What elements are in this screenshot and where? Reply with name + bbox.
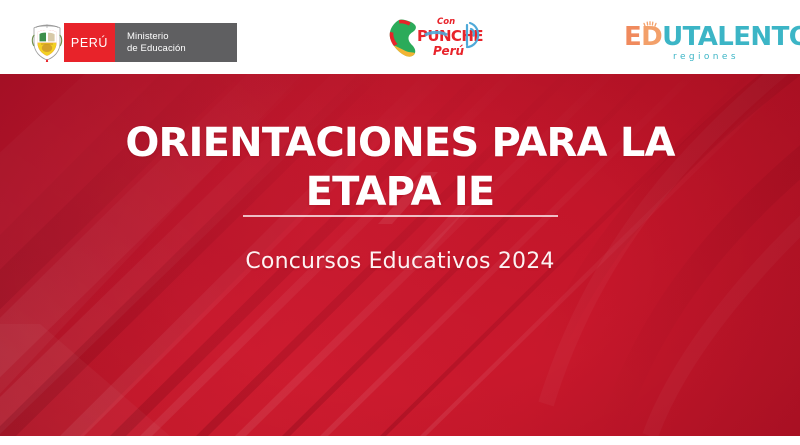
ministry-line-1: Ministerio [127,31,237,43]
sun-rays-icon [643,20,657,27]
peru-map-icon [390,20,416,57]
peru-label-block: PERÚ [64,23,115,62]
presentation-slide: PERÚ Ministerio de Educación Con PUNCHE [0,0,800,445]
edutalentos-rest: UTALENTOS [662,22,800,52]
peru-coat-of-arms-icon [30,23,64,62]
page-title: ORIENTACIONES PARA LA ETAPA IE [0,119,800,217]
edutalentos-wordmark: EDUTALENTOS [624,24,774,51]
punche-con-text: Con [437,17,455,27]
ministry-label-block: Ministerio de Educación [115,23,237,62]
bottom-strip [0,436,800,445]
page-subtitle: Concursos Educativos 2024 [0,249,800,274]
edutalentos-logo: EDUTALENTOS regiones [624,24,774,62]
minedu-logo: PERÚ Ministerio de Educación [30,23,237,62]
con-punche-peru-logo: Con PUNCHE Perú [385,13,485,65]
punche-peru-text: Perú [433,44,465,58]
peru-label: PERÚ [71,36,108,50]
title-divider [243,215,558,217]
edutalentos-subtitle: regiones [624,52,774,62]
edutalentos-letter-e: E [624,22,641,52]
ministry-line-2: de Educación [127,43,237,55]
logo-bar: PERÚ Ministerio de Educación Con PUNCHE [0,0,800,74]
